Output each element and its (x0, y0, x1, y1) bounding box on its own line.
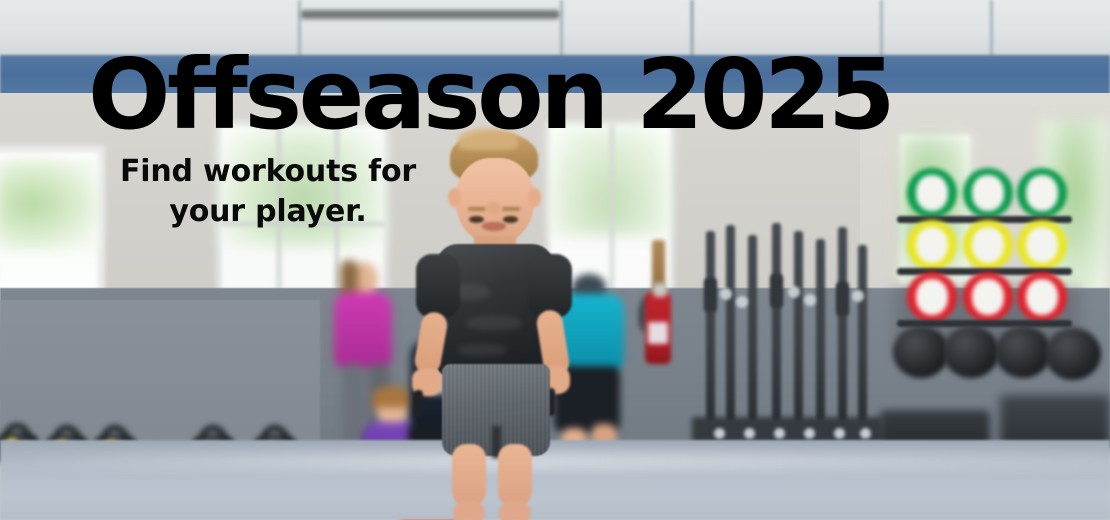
offseason-hero-banner: Offseason 2025 Find workouts for your pl… (0, 0, 1110, 520)
boy-thigh-right (498, 444, 532, 506)
barbell-storage-rack (700, 230, 875, 445)
boy-thigh-left (452, 444, 486, 506)
extinguisher-label (648, 322, 668, 344)
medicine-ball-red (907, 272, 957, 322)
boy-mouth (482, 222, 506, 231)
ceiling-wire (990, 0, 993, 58)
extinguisher-valve (653, 283, 667, 297)
slam-ball-black (995, 326, 1051, 378)
window-foliage (0, 158, 98, 250)
medicine-ball-red (1017, 272, 1067, 322)
boy-nose (486, 202, 500, 214)
ceiling-beam (300, 10, 560, 19)
boy-sleeve-right (528, 254, 572, 318)
boy-knee-right (499, 500, 531, 520)
medicine-ball-red (963, 272, 1013, 322)
wall-lower-left (0, 300, 320, 440)
jump-rope-handle-left (414, 390, 423, 418)
slam-ball-black (943, 326, 999, 378)
boy-knee-left (453, 500, 485, 520)
boy-shorts-grey (442, 364, 550, 456)
medicine-ball-green (1017, 168, 1067, 218)
medicine-ball-yellow (963, 220, 1013, 270)
slam-ball-black (893, 326, 949, 378)
page-subtitle: Find workouts for your player. (88, 152, 448, 231)
fire-extinguisher (645, 292, 671, 364)
medicine-ball-yellow (1017, 220, 1067, 270)
medicine-ball-green (963, 168, 1013, 218)
medicine-ball-green (907, 168, 957, 218)
boy-face (456, 158, 534, 244)
boy-sleeve-left (416, 254, 460, 318)
page-title: Offseason 2025 (88, 46, 892, 143)
medicine-ball-yellow (907, 220, 957, 270)
medicine-ball-rack (905, 168, 1070, 353)
slam-ball-black (1045, 328, 1101, 380)
